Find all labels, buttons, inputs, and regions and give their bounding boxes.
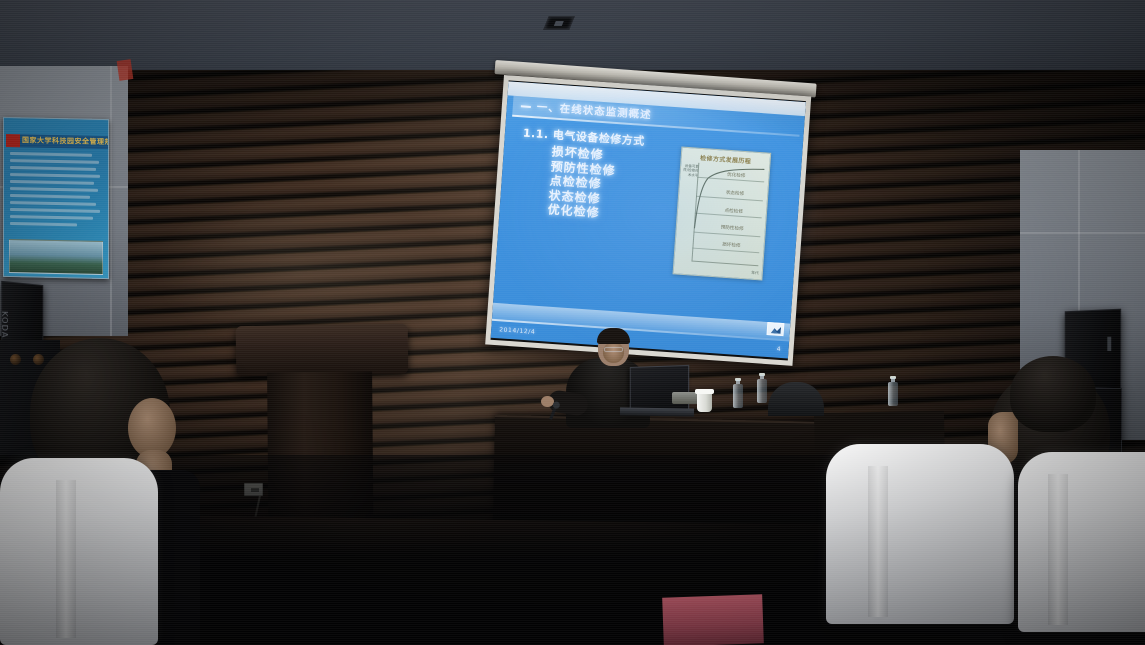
audience-hair: [1010, 356, 1096, 432]
open-laptop-base[interactable]: [620, 407, 694, 416]
inset-chart-xlabel: 年代: [751, 270, 759, 277]
wall-seam: [110, 66, 112, 336]
poster-photo: [9, 239, 103, 275]
wall-notice-board[interactable]: 国家大学科技园安全管理规定: [3, 117, 109, 279]
university-logo: [767, 322, 785, 336]
header-dash-icon: [521, 105, 531, 108]
wooden-lectern-top: [236, 324, 409, 376]
speaker-hair: [597, 328, 630, 344]
water-bottle: [757, 373, 767, 403]
paper-cup-lid: [695, 389, 714, 394]
speaker-face: [603, 342, 624, 363]
inset-chart-plot: 优化检修 状态检修 点检检修 预防性检修 损坏检修: [691, 163, 765, 266]
wall-red-tag: [117, 59, 134, 81]
seat-cover: [826, 444, 1014, 624]
inset-chart-annotation: 损坏检修: [722, 242, 741, 249]
audience-face: [128, 398, 176, 458]
poster-text-block: [10, 152, 103, 231]
eyeglasses-icon: [604, 347, 623, 352]
water-bottle: [733, 378, 743, 408]
speaker-brand-label: KODA: [0, 311, 9, 339]
projection-screen[interactable]: 一、在线状态监测概述 1.1. 电气设备检修方式 损坏检修 预防性检修 点检检修…: [485, 75, 811, 366]
poster-heading: 国家大学科技园安全管理规定: [22, 135, 109, 147]
slide-bullet-list: 损坏检修 预防性检修 点检检修 状态检修 优化检修: [547, 145, 617, 222]
seat-cover: [1018, 452, 1145, 632]
slide-page-number: 4: [776, 346, 780, 353]
wall-seam: [1020, 232, 1145, 234]
speaker-driver-icon: [33, 354, 44, 365]
slide-section-title: 1.1. 电气设备检修方式: [522, 124, 645, 148]
presentation-slide: 一、在线状态监测概述 1.1. 电气设备检修方式 损坏检修 预防性检修 点检检修…: [491, 81, 806, 358]
paper-cup: [697, 392, 712, 412]
slide-inset-chart: 检修方式发展历程 设备可靠性/检修技术水平 优化检修 状态检修 点检检修 预防性…: [673, 147, 772, 281]
seat-cover: [0, 458, 158, 645]
slide-footer-date: 2014/12/4: [499, 326, 536, 336]
inset-chart-curve: [694, 163, 766, 235]
open-laptop-screen[interactable]: [630, 365, 689, 411]
audience-seat-cushion[interactable]: [662, 594, 764, 645]
poster-header-bar: 国家大学科技园安全管理规定: [6, 134, 108, 149]
speaker-driver-icon: [10, 354, 21, 365]
lecture-hall-scene: 国家大学科技园安全管理规定 KODA: [0, 0, 1145, 645]
water-bottle: [888, 376, 898, 406]
inset-chart-xaxis: [691, 261, 758, 267]
speaker-port-icon: [1107, 337, 1111, 351]
